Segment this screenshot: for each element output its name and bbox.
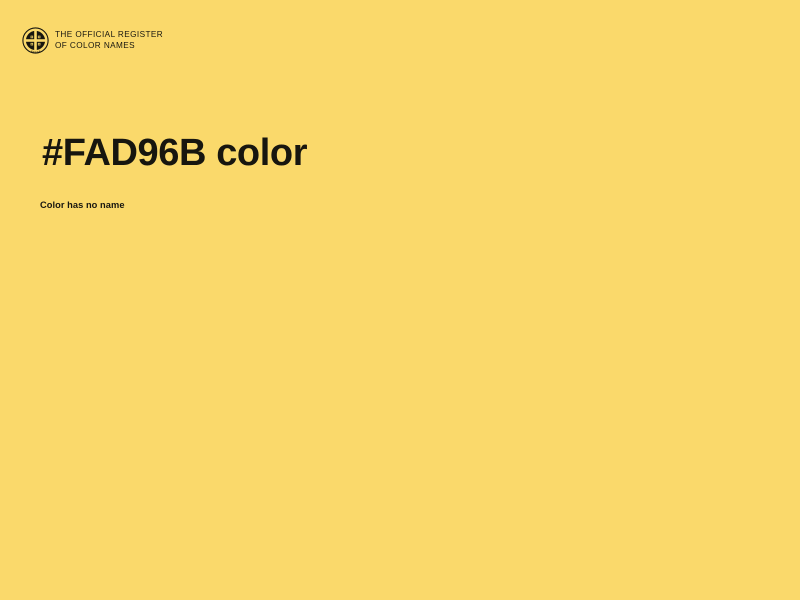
brand-name: THE OFFICIAL REGISTER OF COLOR NAMES [55, 30, 163, 51]
page-title: #FAD96B color [42, 130, 307, 176]
register-seal-icon [22, 27, 49, 54]
color-name-status: Color has no name [40, 199, 125, 211]
brand-header[interactable]: THE OFFICIAL REGISTER OF COLOR NAMES [22, 27, 163, 54]
brand-line-2: OF COLOR NAMES [55, 41, 163, 52]
brand-line-1: THE OFFICIAL REGISTER [55, 30, 163, 41]
color-page: THE OFFICIAL REGISTER OF COLOR NAMES #FA… [0, 0, 800, 600]
